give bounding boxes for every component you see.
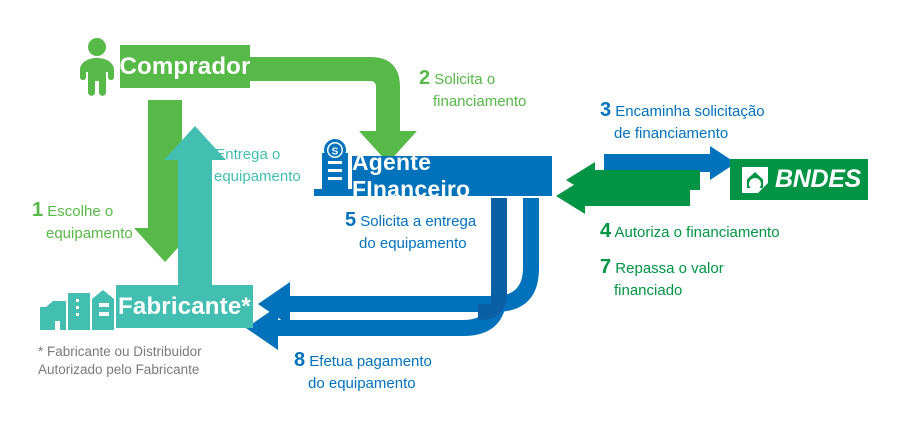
step-7-line2: financiado: [614, 281, 682, 300]
step-7-line1: Repassa o valor: [615, 260, 723, 277]
factory-icon: [38, 285, 116, 330]
step-5-number: 5: [345, 209, 356, 231]
step-6-line1: Entrega o: [215, 146, 280, 163]
step-8-line1: Efetua pagamento: [309, 353, 432, 370]
step-label-4: 4 Autoriza o financiamento: [600, 219, 780, 245]
step-6-line2: equipamento: [214, 167, 301, 186]
svg-text:S: S: [332, 147, 339, 158]
bndes-logo-icon: [742, 167, 768, 193]
node-fabricante-label: Fabricante*: [118, 293, 251, 321]
step-label-8: 8 Efetua pagamento do equipamento: [294, 348, 432, 393]
step-2-line1: Solicita o: [434, 71, 495, 88]
footnote: * Fabricante ou Distribuidor Autorizado …: [38, 343, 202, 379]
step-8-line2: do equipamento: [308, 374, 416, 393]
step-3-number: 3: [600, 99, 611, 121]
step-2-line2: financiamento: [433, 92, 526, 111]
step-6-number: 6: [200, 142, 211, 164]
step-4-line1: Autoriza o financiamento: [614, 224, 779, 241]
step-3-line1: Encaminha solicitação: [615, 103, 764, 120]
step-5-line2: do equipamento: [359, 234, 467, 253]
node-agente-financeiro[interactable]: Agente FInanceiro: [352, 156, 552, 196]
step-label-3: 3 Encaminha solicitação de financiamento: [600, 98, 765, 143]
node-bndes[interactable]: BNDES: [730, 159, 868, 200]
step-2-number: 2: [419, 67, 430, 89]
step-label-6: 6 Entrega o equipamento: [200, 141, 301, 186]
step-label-5: 5 Solicita a entrega do equipamento: [345, 208, 476, 253]
step-label-1: 1 Escolhe o equipamento: [32, 198, 133, 243]
person-icon: [74, 36, 120, 98]
step-7-number: 7: [600, 256, 611, 278]
node-comprador[interactable]: Comprador: [120, 45, 250, 88]
node-bndes-label: BNDES: [775, 165, 861, 194]
node-comprador-label: Comprador: [119, 53, 250, 81]
step-4-number: 4: [600, 220, 611, 242]
bank-dollar-icon: S: [314, 139, 356, 196]
step-5-line1: Solicita a entrega: [360, 213, 476, 230]
step-1-number: 1: [32, 199, 43, 221]
footnote-line2: Autorizado pelo Fabricante: [38, 362, 199, 377]
step-8-number: 8: [294, 349, 305, 371]
step-1-line2: equipamento: [46, 224, 133, 243]
step-3-line2: de financiamento: [614, 124, 728, 143]
node-fabricante[interactable]: Fabricante*: [116, 285, 253, 328]
step-1-line1: Escolhe o: [47, 203, 113, 220]
diagram-canvas: Comprador S Agente FInanceiro Fabricante…: [0, 0, 900, 428]
step-label-7: 7 Repassa o valor financiado: [600, 255, 724, 300]
step-label-2: 2 Solicita o financiamento: [419, 66, 526, 111]
footnote-line1: * Fabricante ou Distribuidor: [38, 344, 202, 359]
node-agente-financeiro-label: Agente FInanceiro: [352, 149, 552, 203]
